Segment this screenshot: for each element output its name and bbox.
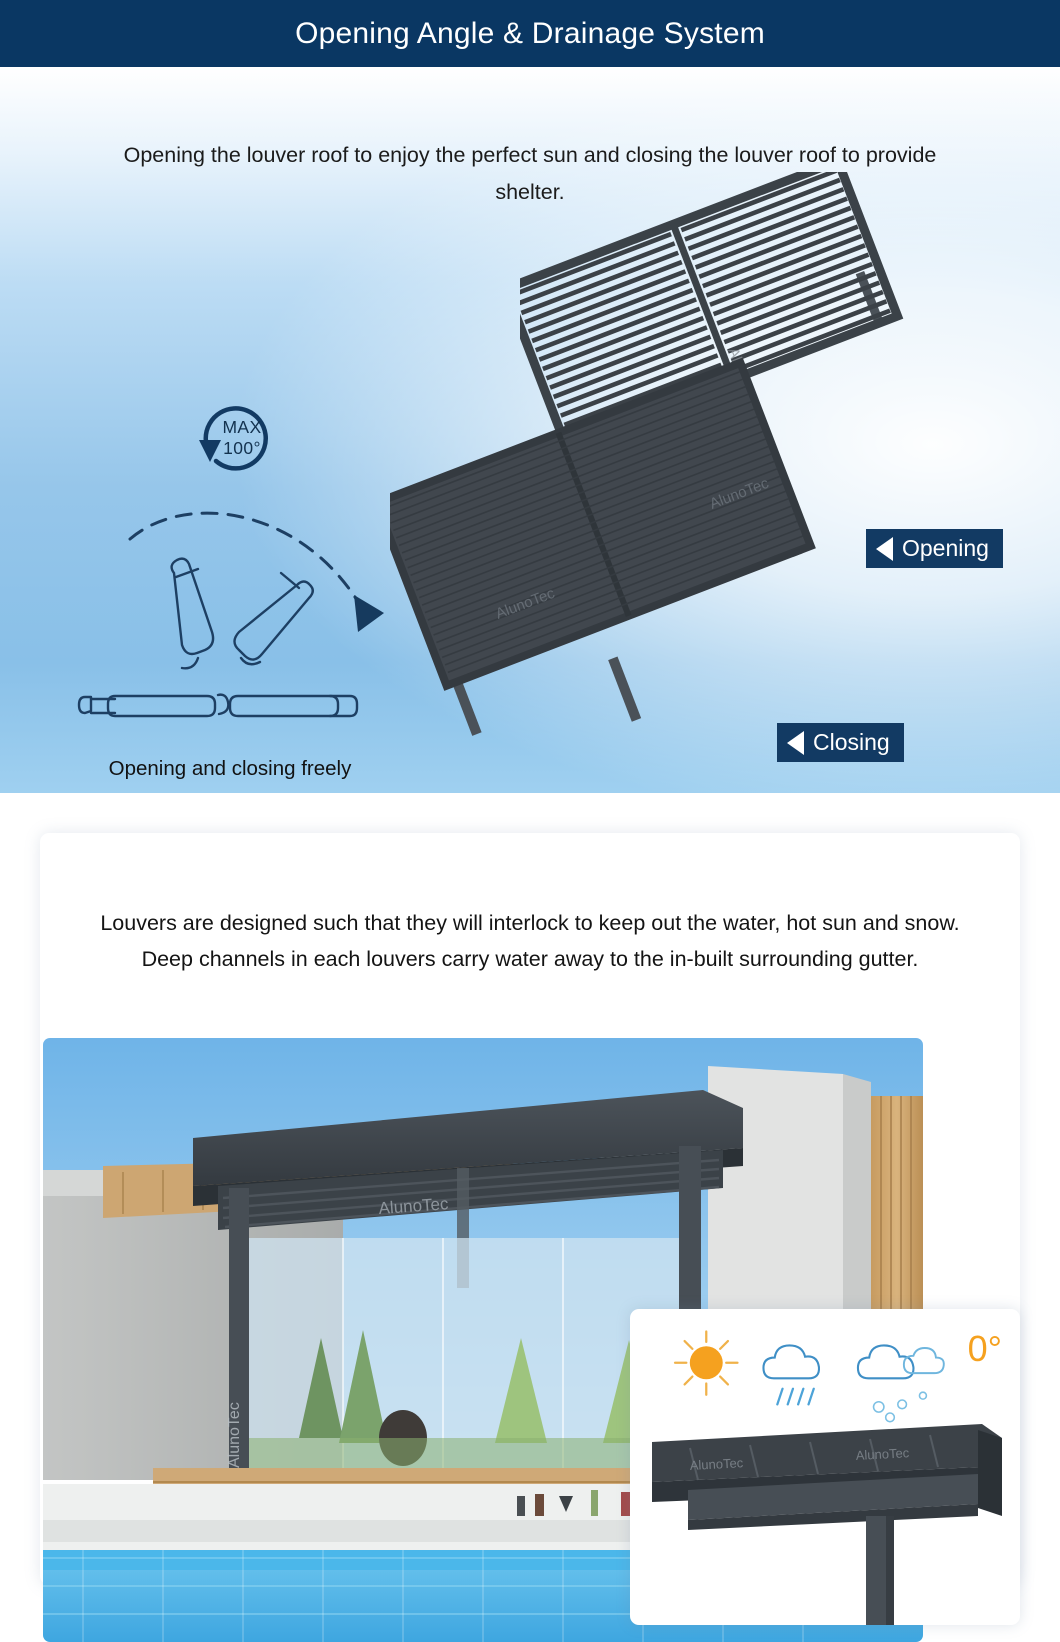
page-title: Opening Angle & Drainage System bbox=[295, 17, 765, 51]
max-label: MAX bbox=[222, 417, 261, 438]
louver-diagram-caption: Opening and closing freely bbox=[40, 757, 420, 781]
roof-cross-section-render: AlunoTec AlunoTec bbox=[630, 1404, 1020, 1625]
weather-drainage-inset: 0° AlunoTec Alun bbox=[630, 1309, 1020, 1625]
tag-opening-label: Opening bbox=[902, 534, 989, 563]
tag-closing[interactable]: Closing bbox=[777, 723, 904, 762]
tag-closing-label: Closing bbox=[813, 728, 890, 757]
drainage-description: Louvers are designed such that they will… bbox=[100, 905, 960, 977]
louver-rotation-diagram bbox=[58, 485, 408, 730]
sun-icon bbox=[675, 1332, 737, 1395]
watermark-text: AlunoTec bbox=[855, 1445, 910, 1463]
watermark-text: AlunoTec bbox=[226, 1402, 243, 1468]
page-header: Opening Angle & Drainage System bbox=[0, 0, 1060, 67]
max-angle-badge: MAX 100° bbox=[190, 390, 285, 485]
drainage-card: Louvers are designed such that they will… bbox=[40, 833, 1020, 1585]
temperature-value: 0° bbox=[968, 1331, 1002, 1367]
opening-angle-section: Opening the louver roof to enjoy the per… bbox=[0, 67, 1060, 793]
watermark-text: AlunoTec bbox=[689, 1455, 744, 1473]
left-triangle-icon bbox=[876, 537, 893, 561]
drainage-section: Louvers are designed such that they will… bbox=[0, 793, 1060, 1606]
left-triangle-icon bbox=[787, 731, 804, 755]
tag-opening[interactable]: Opening bbox=[866, 529, 1003, 568]
max-value: 100° bbox=[223, 438, 261, 459]
rain-cloud-icon bbox=[763, 1345, 819, 1404]
